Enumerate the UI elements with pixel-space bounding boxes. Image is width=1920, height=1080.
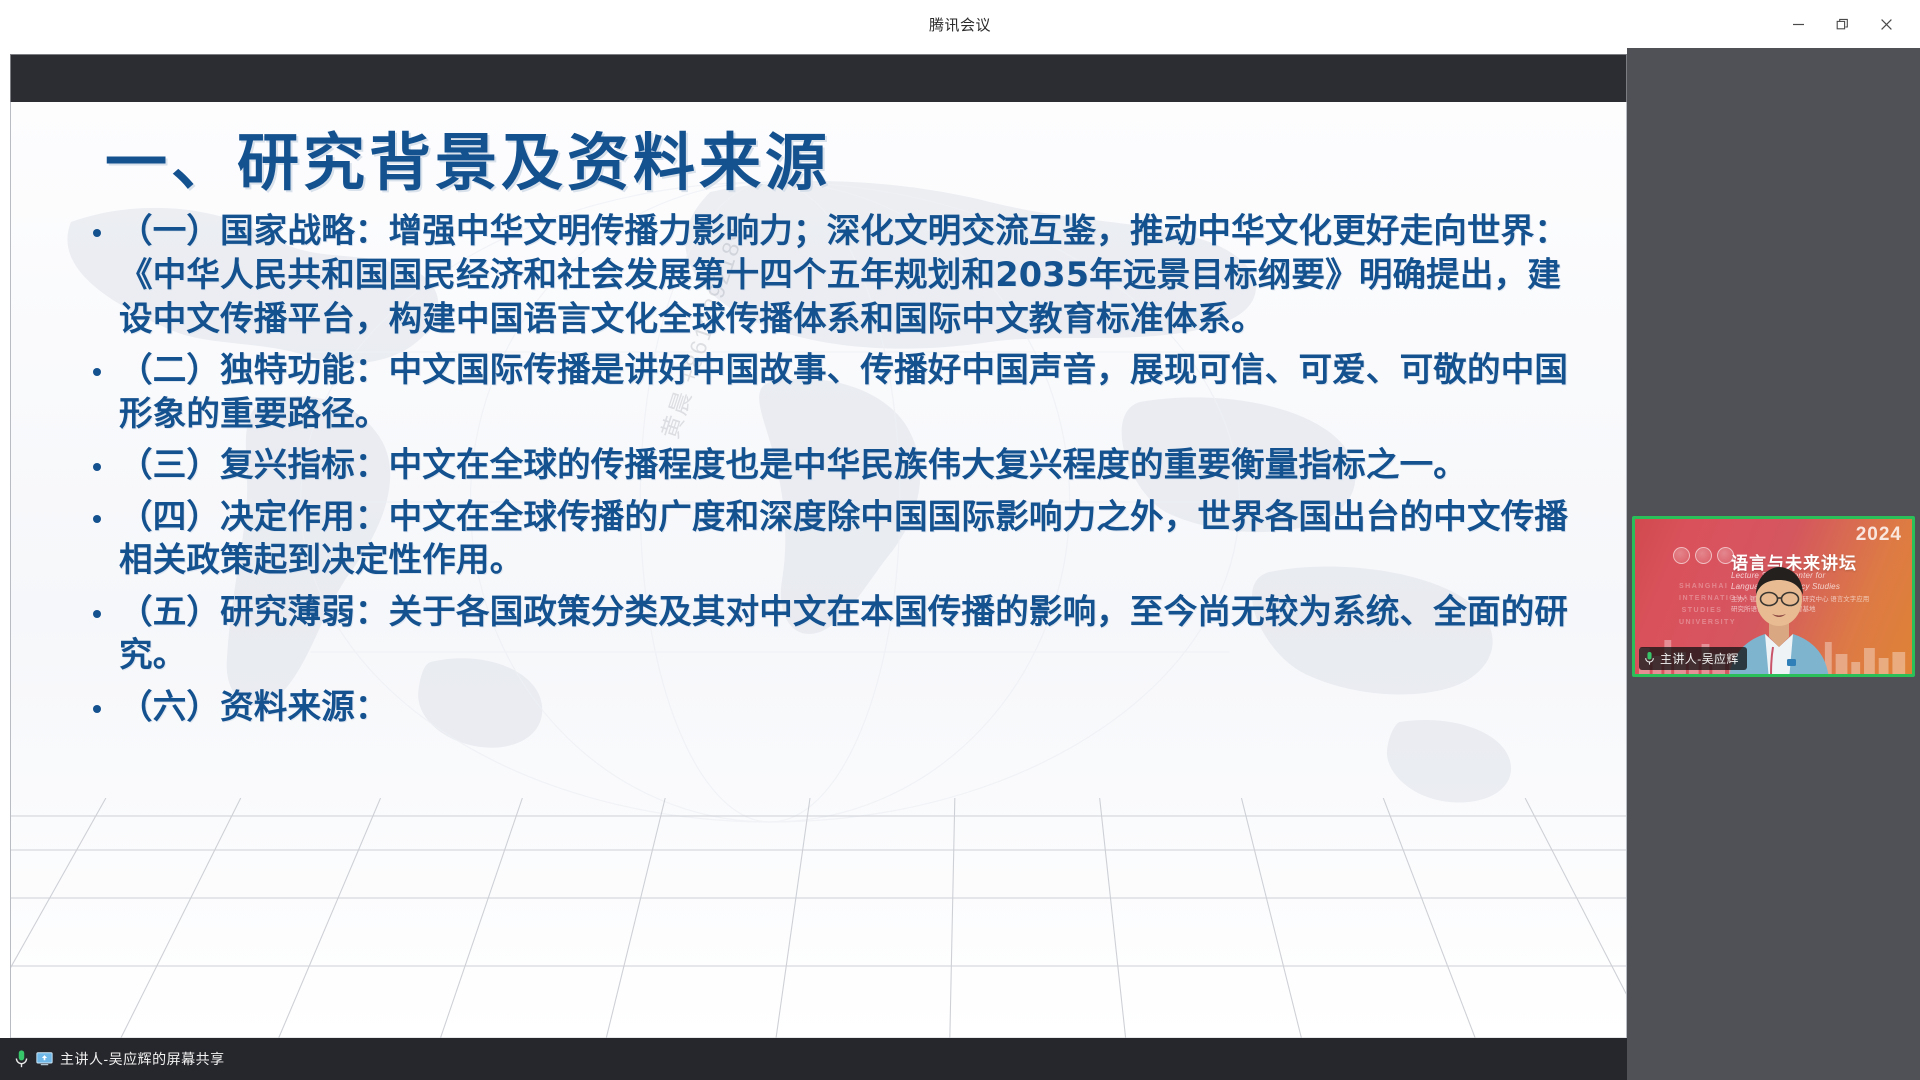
presenter-video-tile[interactable]: SHANGHAI INTERNATIONAL STUDIES UNIVERSIT… (1632, 516, 1915, 677)
slide-bullet-1: （一）国家战略：增强中华文明传播力影响力；深化文明交流互鉴，推动中华文化更好走向… (67, 209, 1586, 340)
seal-icon-1 (1673, 547, 1690, 564)
close-button[interactable] (1864, 4, 1908, 44)
minimize-icon (1792, 18, 1805, 31)
backdrop-year: 2024 (1856, 524, 1902, 546)
slide-title: 一、研究背景及资料来源 (53, 128, 1586, 197)
backdrop-university-text: SHANGHAI INTERNATIONAL STUDIES UNIVERSIT… (1679, 581, 1725, 629)
video-tile-name-text: 主讲人-吴应辉 (1660, 650, 1739, 667)
video-tile-name-badge: 主讲人-吴应辉 (1639, 647, 1747, 670)
window-controls (1776, 0, 1908, 48)
slide-content: 一、研究背景及资料来源 （一）国家战略：增强中华文明传播力影响力；深化文明交流互… (11, 102, 1626, 728)
seal-icon-2 (1695, 547, 1712, 564)
microphone-icon (14, 1049, 29, 1069)
close-icon (1880, 18, 1893, 31)
organization-seals (1673, 547, 1734, 564)
slide-bullet-5: （五）研究薄弱：关于各国政策分类及其对中文在本国传播的影响，至今尚无较为系统、全… (67, 590, 1586, 677)
microphone-icon (1644, 651, 1655, 666)
window-title: 腾讯会议 (929, 14, 991, 35)
meeting-body: 黄晨 +8613892189 一、研究背景及资料来源 （一）国家战略：增强中华文… (0, 48, 1920, 1080)
shared-screen-topbar (10, 54, 1627, 102)
presentation-slide: 黄晨 +8613892189 一、研究背景及资料来源 （一）国家战略：增强中华文… (10, 102, 1627, 1038)
presenter-share-label: 主讲人-吴应辉的屏幕共享 (8, 1045, 237, 1073)
slide-bullet-4: （四）决定作用：中文在全球传播的广度和深度除中国国际影响力之外，世界各国出台的中… (67, 495, 1586, 582)
share-status-bar: 主讲人-吴应辉的屏幕共享 (0, 1038, 237, 1080)
screen-share-icon (36, 1052, 53, 1066)
restore-button[interactable] (1820, 4, 1864, 44)
slide-bullet-3: （三）复兴指标：中文在全球的传播程度也是中华民族伟大复兴程度的重要衡量指标之一。 (67, 443, 1586, 487)
restore-icon (1836, 18, 1849, 31)
minimize-button[interactable] (1776, 4, 1820, 44)
tencent-meeting-window: 腾讯会议 (0, 0, 1920, 1080)
perspective-floor-grid (11, 798, 1626, 1038)
slide-bullet-6: （六）资料来源： (67, 685, 1586, 729)
window-titlebar: 腾讯会议 (0, 0, 1920, 48)
slide-bullet-list: （一）国家战略：增强中华文明传播力影响力；深化文明交流互鉴，推动中华文化更好走向… (53, 209, 1586, 728)
shared-screen-stage[interactable]: 黄晨 +8613892189 一、研究背景及资料来源 （一）国家战略：增强中华文… (0, 48, 1627, 1080)
presenter-share-text: 主讲人-吴应辉的屏幕共享 (60, 1049, 225, 1069)
slide-bullet-2: （二）独特功能：中文国际传播是讲好中国故事、传播好中国声音，展现可信、可爱、可敬… (67, 348, 1586, 435)
shared-screen-bottombar (0, 1038, 1627, 1080)
